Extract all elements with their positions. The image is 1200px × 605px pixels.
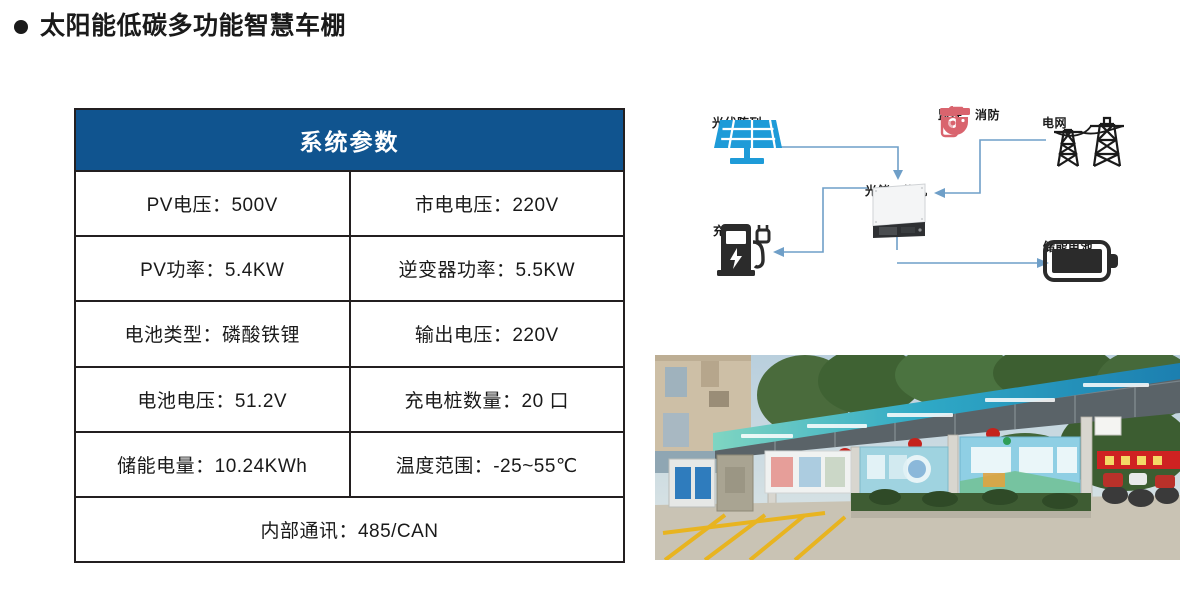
spec-cell-temperature-range: 温度范围：-25~55℃ [351,433,624,496]
carport-photo-illustration [655,355,1180,560]
spec-table-header-text: 系统参数 [300,123,400,157]
slide-page: 太阳能低碳多功能智慧车棚 系统参数 PV电压：500V 市电电压：220V PV… [0,0,1200,605]
spec-cell-charger-count: 充电桩数量：20 口 [351,368,624,431]
spec-cell-battery-type: 电池类型：磷酸铁锂 [76,302,351,365]
table-row: 内部通讯：485/CAN [76,498,623,561]
spec-table: 系统参数 PV电压：500V 市电电压：220V PV功率：5.4KW 逆变器功… [74,108,625,563]
diagram-node-battery: 储能电池 [1043,238,1093,255]
hybrid-inverter-icon [865,182,933,244]
table-row: 电池电压：51.2V 充电桩数量：20 口 [76,368,623,433]
solar-panel-icon [712,114,784,170]
spec-cell-storage-capacity: 储能电量：10.24KWh [76,433,351,496]
spec-cell-pv-power: PV功率：5.4KW [76,237,351,300]
diagram-safety-group: 监控 消防 [938,106,1000,123]
spec-cell-battery-voltage: 电池电压：51.2V [76,368,351,431]
table-row: 电池类型：磷酸铁锂 输出电压：220V [76,302,623,367]
diagram-node-grid: 电网 [1042,114,1067,131]
solar-carport-photo [655,355,1180,560]
diagram-node-charger: 充电桩 [713,222,751,239]
diagram-node-fire: 消防 [975,106,1000,123]
diagram-node-pv-array: 光伏阵列 [712,114,762,131]
spec-cell-pv-voltage: PV电压：500V [76,172,351,235]
power-pylon-icon [1042,114,1127,176]
spec-cell-inverter-power: 逆变器功率：5.5KW [351,237,624,300]
system-flow-diagram: 光伏阵列 监控 [650,100,1195,345]
diagram-label-fire: 消防 [975,106,1000,123]
table-row: 储能电量：10.24KWh 温度范围：-25~55℃ [76,433,623,498]
table-row: PV功率：5.4KW 逆变器功率：5.5KW [76,237,623,302]
table-row: PV电压：500V 市电电压：220V [76,172,623,237]
bullet-dot-icon [14,20,28,34]
spec-cell-internal-comm: 内部通讯：485/CAN [76,498,623,561]
ev-charger-icon [713,222,775,280]
page-title: 太阳能低碳多功能智慧车棚 [14,14,346,39]
battery-storage-icon [1043,238,1119,284]
fire-extinguisher-icon [938,106,968,138]
spec-table-header: 系统参数 [76,110,623,172]
page-title-text: 太阳能低碳多功能智慧车棚 [40,14,346,39]
spec-cell-mains-voltage: 市电电压：220V [351,172,624,235]
diagram-node-inverter: 光储一体机 [865,182,928,199]
spec-cell-output-voltage: 输出电压：220V [351,302,624,365]
